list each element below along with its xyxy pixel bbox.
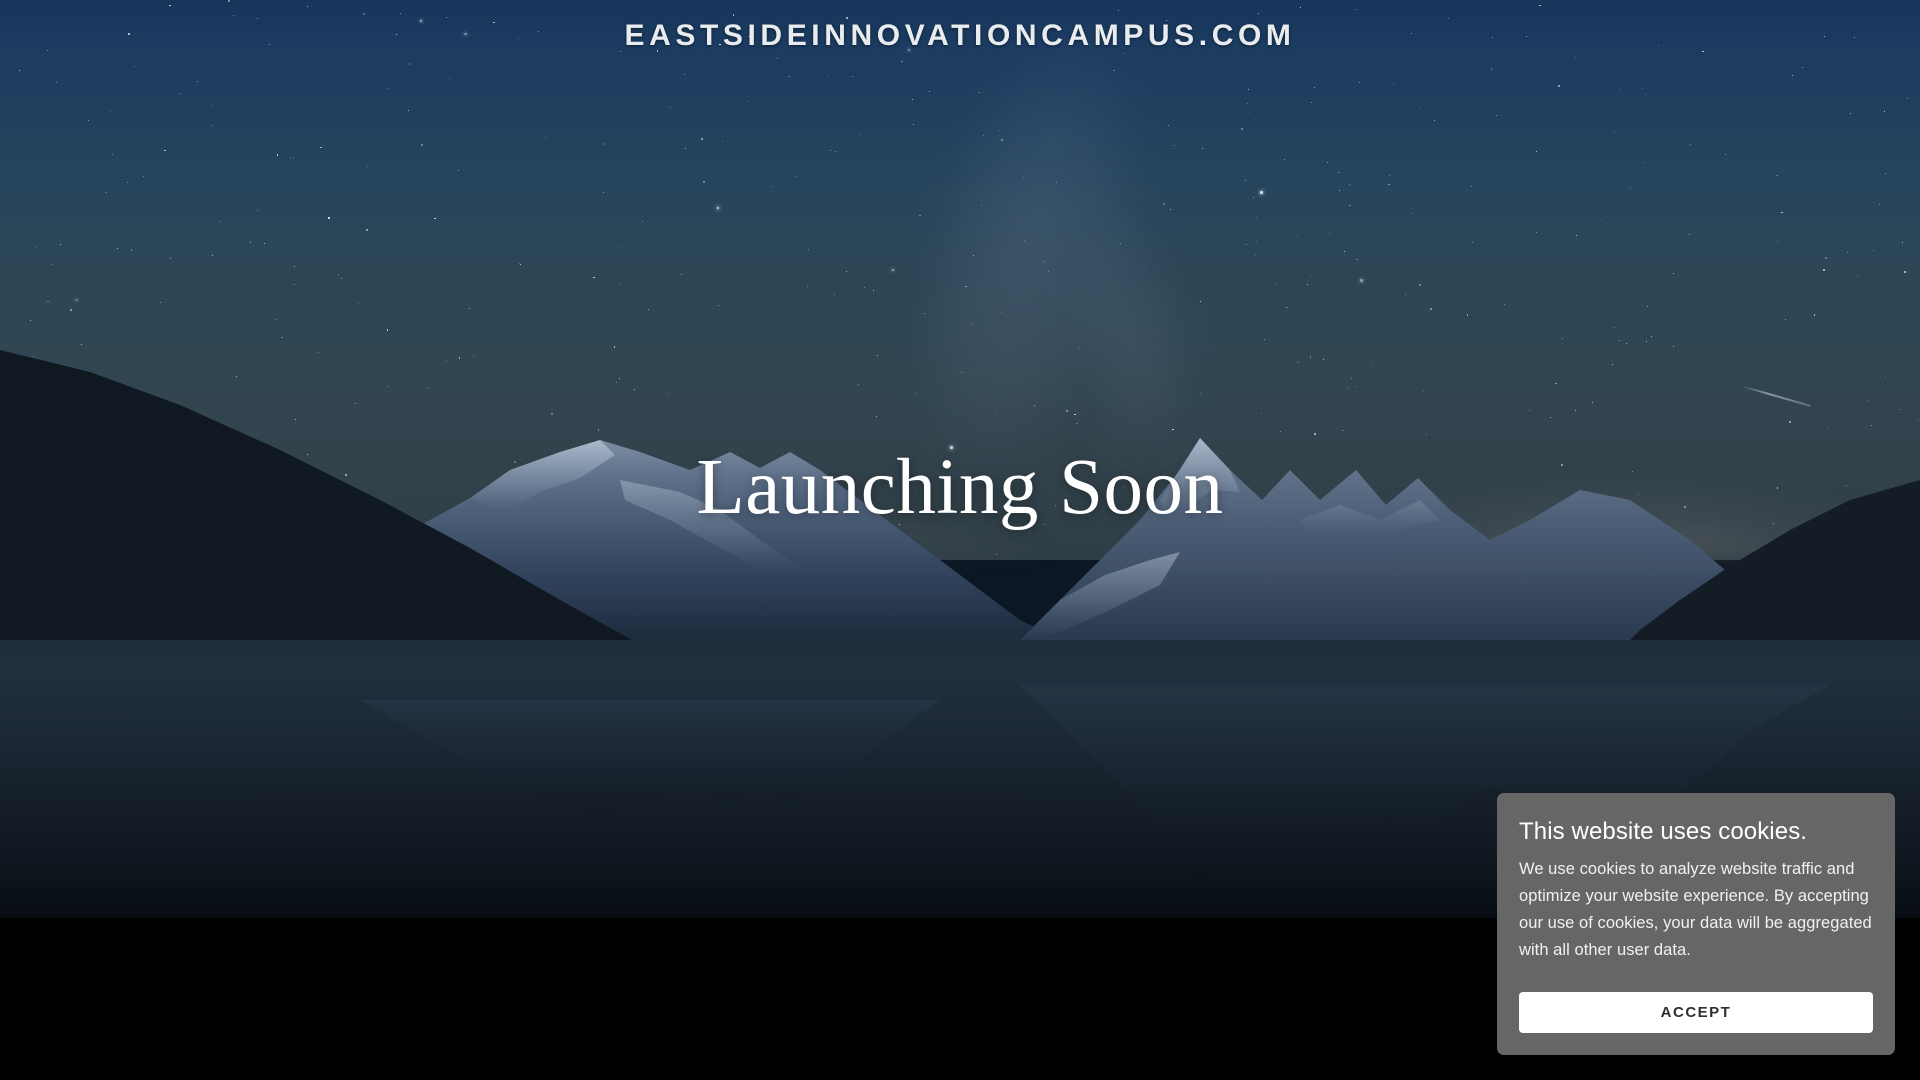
accept-cookies-button[interactable]: ACCEPT <box>1519 992 1873 1033</box>
site-title: EASTSIDEINNOVATIONCAMPUS.COM <box>0 18 1920 54</box>
hero-headline: Launching Soon <box>0 440 1920 535</box>
cookie-consent-banner: This website uses cookies. We use cookie… <box>1497 793 1895 1055</box>
cookie-banner-body: We use cookies to analyze website traffi… <box>1519 856 1873 964</box>
cookie-banner-title: This website uses cookies. <box>1519 817 1873 847</box>
hero-section: EASTSIDEINNOVATIONCAMPUS.COM Launching S… <box>0 0 1920 918</box>
page-root: EASTSIDEINNOVATIONCAMPUS.COM Launching S… <box>0 0 1920 1080</box>
